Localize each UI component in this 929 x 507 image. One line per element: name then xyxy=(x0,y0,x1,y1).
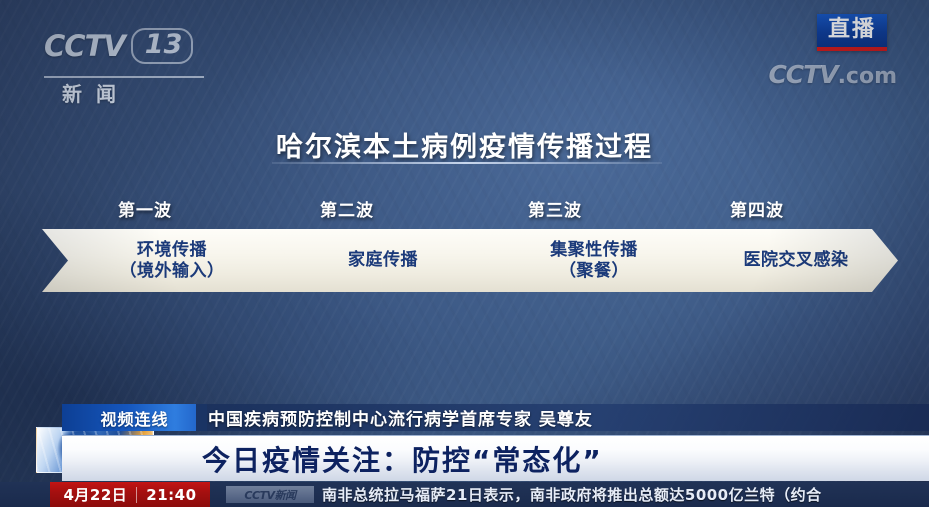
ticker-datetime-separator xyxy=(136,487,137,503)
chart-title: 哈尔滨本土病例疫情传播过程 xyxy=(0,125,929,164)
broadcast-screen: CCTV 13 新闻 直播 CCTV.com 哈尔滨本土病例疫情传播过程 第一波… xyxy=(0,0,929,507)
cctv-wordmark: CCTV xyxy=(44,29,125,63)
chart-title-underline xyxy=(272,162,662,164)
cctv-channel-number: 13 xyxy=(131,28,194,64)
ticker-cctv-news-logo: CCTV新闻 xyxy=(226,486,314,503)
live-badge-label: 直播 xyxy=(828,17,876,43)
transmission-flow-diagram: 环境传播 （境外输入） 家庭传播 集聚性传播 （聚餐） 医院交叉感染 xyxy=(42,229,898,292)
chart-title-text: 哈尔滨本土病例疫情传播过程 xyxy=(276,125,653,164)
cctv-com-word: CCTV xyxy=(768,60,837,89)
news-ticker: 4月22日 21:40 CCTV新闻 南非总统拉马福萨21日表示，南非政府将推出… xyxy=(0,482,929,507)
ticker-headline-text: 南非总统拉马福萨21日表示，南非政府将推出总额达5000亿兰特（约合 xyxy=(322,482,822,507)
guest-credit-bar: 中国疾病预防控制中心流行病学首席专家 吴尊友 xyxy=(196,404,929,431)
flow-stage-3-label: 集聚性传播 （聚餐） xyxy=(536,240,644,282)
flow-stage-4-label: 医院交叉感染 xyxy=(730,250,855,271)
flow-stage-1-label: 环境传播 （境外输入） xyxy=(106,240,231,282)
cctv13-logo-row: CCTV 13 xyxy=(44,28,193,64)
source-tag-label: 视频连线 xyxy=(100,406,168,430)
flow-stage-1: 环境传播 （境外输入） xyxy=(42,229,294,292)
source-tag: 视频连线 xyxy=(62,404,207,431)
wave-label-1: 第一波 xyxy=(118,196,172,221)
flow-stage-3: 集聚性传播 （聚餐） xyxy=(464,229,716,292)
flow-stage-4: 医院交叉感染 xyxy=(686,229,898,292)
cctv-com-watermark: CCTV.com xyxy=(768,60,897,89)
wave-label-2: 第二波 xyxy=(320,196,374,221)
ticker-cctv-news-logo-label: CCTV新闻 xyxy=(244,487,295,503)
ticker-time: 21:40 xyxy=(146,486,196,504)
cctv-com-domain: .com xyxy=(838,64,897,89)
wave-label-row: 第一波 第二波 第三波 第四波 xyxy=(0,196,929,222)
headline-text: 今日疫情关注：防控“常态化” xyxy=(62,439,603,479)
cctv-logo-subtitle: 新闻 xyxy=(62,78,130,107)
flow-stage-2: 家庭传播 xyxy=(264,229,494,292)
wave-label-3: 第三波 xyxy=(528,196,582,221)
guest-credit-text: 中国疾病预防控制中心流行病学首席专家 吴尊友 xyxy=(196,405,593,430)
ticker-datetime-box: 4月22日 21:40 xyxy=(50,482,210,507)
wave-label-4: 第四波 xyxy=(730,196,784,221)
headline-bar: 今日疫情关注：防控“常态化” xyxy=(62,435,929,481)
ticker-date: 4月22日 xyxy=(63,484,127,505)
live-badge: 直播 xyxy=(817,14,887,51)
flow-stage-2-label: 家庭传播 xyxy=(334,250,424,271)
